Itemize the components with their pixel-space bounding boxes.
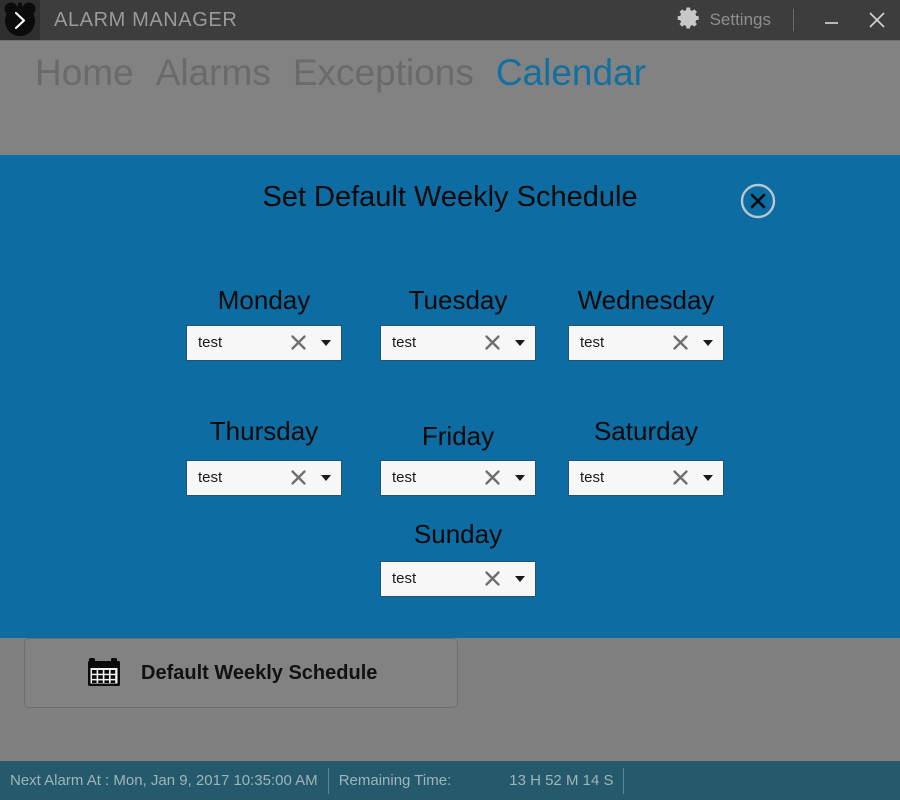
nav-bar: Home Alarms Exceptions Calendar xyxy=(0,40,900,155)
combo-value-tuesday: test xyxy=(392,334,479,351)
minimize-button[interactable] xyxy=(808,0,854,40)
remaining-time-value: 13 H 52 M 14 S xyxy=(499,772,623,789)
clear-x-icon[interactable] xyxy=(667,325,693,361)
close-button[interactable] xyxy=(854,0,900,40)
combo-value-sunday: test xyxy=(392,570,479,587)
close-circle-icon xyxy=(739,182,777,220)
minimize-icon xyxy=(825,22,838,24)
settings-button[interactable]: Settings xyxy=(670,0,777,40)
combo-monday[interactable]: test xyxy=(186,325,342,361)
default-weekly-schedule-label: Default Weekly Schedule xyxy=(141,662,377,685)
status-bar: Next Alarm At : Mon, Jan 9, 2017 10:35:0… xyxy=(0,761,900,800)
app-title: ALARM MANAGER xyxy=(54,9,237,32)
day-cell-wednesday: Wednesday test xyxy=(568,286,724,361)
combo-saturday[interactable]: test xyxy=(568,460,724,496)
day-cell-saturday: Saturday test xyxy=(568,417,724,496)
combo-wednesday[interactable]: test xyxy=(568,325,724,361)
tab-calendar[interactable]: Calendar xyxy=(496,49,646,97)
day-label-saturday: Saturday xyxy=(568,417,724,446)
chevron-down-icon[interactable] xyxy=(505,460,535,496)
titlebar-divider xyxy=(793,9,794,31)
dialog-close-button[interactable] xyxy=(739,182,777,220)
combo-sunday[interactable]: test xyxy=(380,561,536,597)
day-cell-sunday: Sunday test xyxy=(380,520,536,597)
gear-icon xyxy=(676,5,702,36)
clear-x-icon[interactable] xyxy=(285,325,311,361)
day-label-tuesday: Tuesday xyxy=(380,286,536,315)
app-window: ALARM MANAGER Settings Hom xyxy=(0,0,900,800)
chevron-down-icon[interactable] xyxy=(693,460,723,496)
remaining-time-label: Remaining Time: xyxy=(329,772,462,789)
day-label-sunday: Sunday xyxy=(380,520,536,549)
close-icon xyxy=(867,10,887,30)
status-divider-end xyxy=(623,768,624,794)
default-weekly-schedule-button[interactable]: Default Weekly Schedule xyxy=(24,638,458,708)
clear-x-icon[interactable] xyxy=(479,460,505,496)
day-label-friday: Friday xyxy=(380,422,536,451)
day-cell-tuesday: Tuesday test xyxy=(380,286,536,361)
tab-alarms[interactable]: Alarms xyxy=(156,49,271,97)
chevron-down-icon[interactable] xyxy=(311,325,341,361)
alarm-clock-icon xyxy=(0,0,40,40)
clear-x-icon[interactable] xyxy=(667,460,693,496)
combo-value-thursday: test xyxy=(198,469,285,486)
combo-friday[interactable]: test xyxy=(380,460,536,496)
combo-thursday[interactable]: test xyxy=(186,460,342,496)
clear-x-icon[interactable] xyxy=(479,325,505,361)
combo-value-monday: test xyxy=(198,334,285,351)
clear-x-icon[interactable] xyxy=(479,561,505,597)
chevron-down-icon[interactable] xyxy=(505,561,535,597)
tab-home[interactable]: Home xyxy=(35,49,134,97)
tab-exceptions[interactable]: Exceptions xyxy=(293,49,474,97)
chevron-down-icon[interactable] xyxy=(693,325,723,361)
combo-tuesday[interactable]: test xyxy=(380,325,536,361)
day-cell-friday: Friday test xyxy=(380,422,536,496)
title-bar: ALARM MANAGER Settings xyxy=(0,0,900,40)
chevron-down-icon[interactable] xyxy=(311,460,341,496)
day-cell-monday: Monday test xyxy=(186,286,342,361)
nav-tabs: Home Alarms Exceptions Calendar xyxy=(35,49,646,97)
day-cell-thursday: Thursday test xyxy=(186,417,342,496)
day-label-monday: Monday xyxy=(186,286,342,315)
calendar-icon xyxy=(85,652,123,695)
settings-label: Settings xyxy=(710,10,771,30)
chevron-down-icon[interactable] xyxy=(505,325,535,361)
next-alarm-status: Next Alarm At : Mon, Jan 9, 2017 10:35:0… xyxy=(0,772,328,789)
combo-value-wednesday: test xyxy=(580,334,667,351)
clear-x-icon[interactable] xyxy=(285,460,311,496)
combo-value-friday: test xyxy=(392,469,479,486)
day-label-thursday: Thursday xyxy=(186,417,342,446)
combo-value-saturday: test xyxy=(580,469,667,486)
day-label-wednesday: Wednesday xyxy=(568,286,724,315)
